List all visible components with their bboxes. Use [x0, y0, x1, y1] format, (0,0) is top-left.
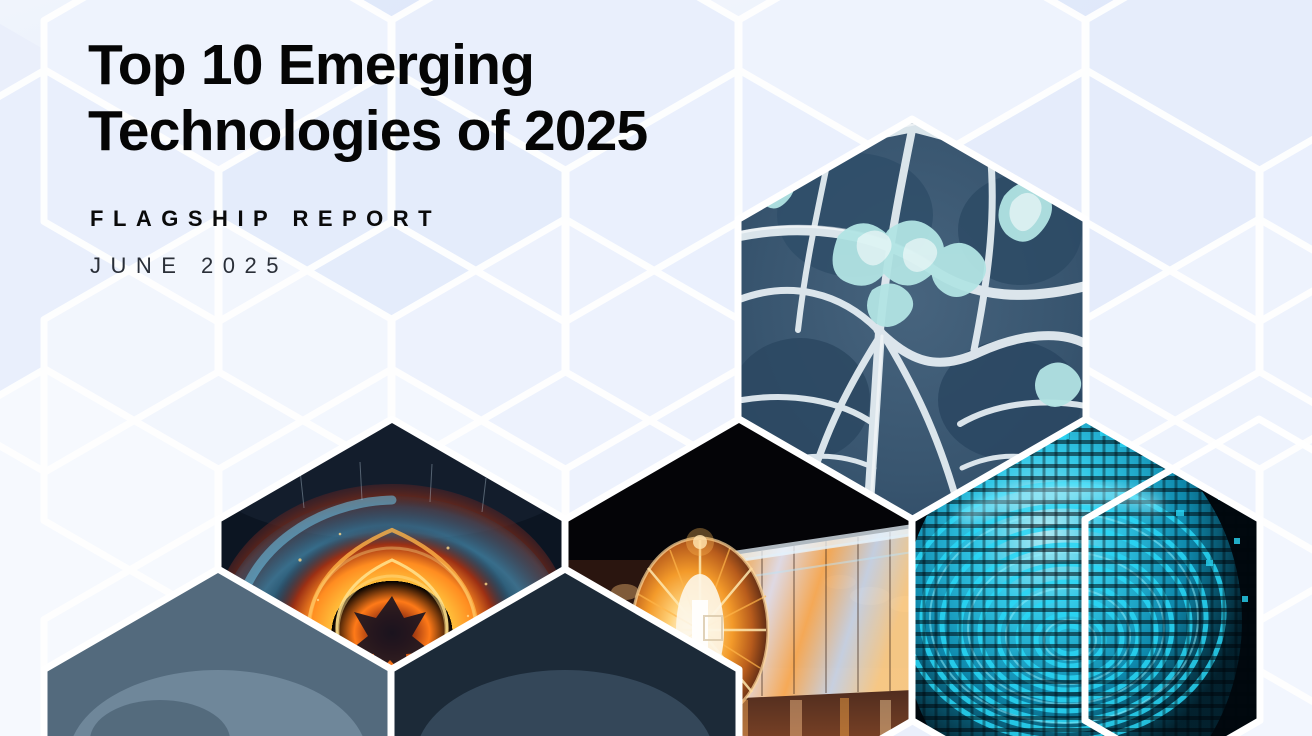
report-cover: Top 10 Emerging Technologies of 2025 FLA… — [0, 0, 1312, 736]
hexagon-background-pattern — [0, 0, 1312, 736]
